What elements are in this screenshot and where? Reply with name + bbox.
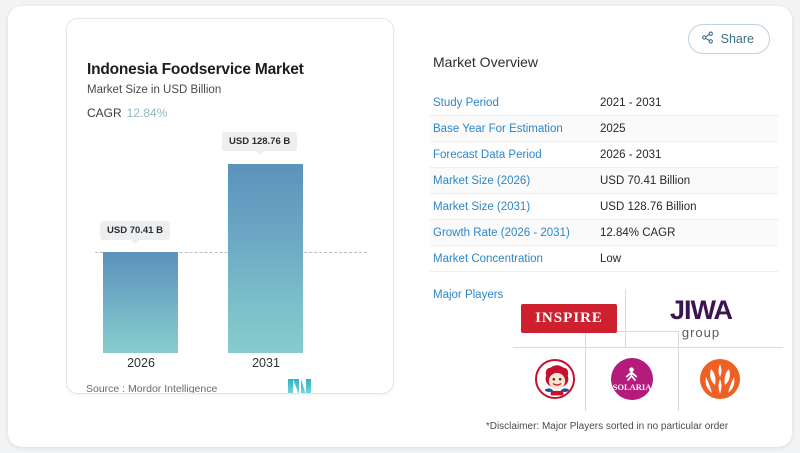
players-disclaimer: *Disclaimer: Major Players sorted in no … xyxy=(432,421,782,432)
table-row: Growth Rate (2026 - 2031) 12.84% CAGR xyxy=(430,220,778,246)
row-key: Growth Rate (2026 - 2031) xyxy=(430,227,600,239)
table-row: Market Size (2031) USD 128.76 Billion xyxy=(430,194,778,220)
table-row: Study Period 2021 - 2031 xyxy=(430,90,778,116)
row-key: Study Period xyxy=(430,97,600,109)
row-key: Market Size (2031) xyxy=(430,201,600,213)
row-key: Market Size (2026) xyxy=(430,175,600,187)
table-row: Base Year For Estimation 2025 xyxy=(430,116,778,142)
jiwa-wordmark: JIWA xyxy=(670,297,732,324)
row-value: 12.84% CAGR xyxy=(600,227,675,239)
bar-2031[interactable] xyxy=(228,164,303,353)
row-value: 2026 - 2031 xyxy=(600,149,661,161)
table-row: Market Size (2026) USD 70.41 Billion xyxy=(430,168,778,194)
bar-label-2026: USD 70.41 B xyxy=(100,221,170,240)
row-value: 2025 xyxy=(600,123,626,135)
row-key: Market Concentration xyxy=(430,253,600,265)
market-overview-title: Market Overview xyxy=(433,54,538,70)
wendys-logo xyxy=(535,359,575,399)
x-axis-label-2026: 2026 xyxy=(96,356,186,370)
bar-label-2031: USD 128.76 B xyxy=(222,132,297,151)
jiwa-subtext: group xyxy=(670,326,732,339)
table-row: Forecast Data Period 2026 - 2031 xyxy=(430,142,778,168)
row-value: 2021 - 2031 xyxy=(600,97,661,109)
chart-card: Indonesia Foodservice Market Market Size… xyxy=(66,18,394,394)
major-players-label: Major Players xyxy=(433,289,503,301)
page-card: Share Indonesia Foodservice Market Marke… xyxy=(8,6,792,447)
market-overview-table: Study Period 2021 - 2031 Base Year For E… xyxy=(430,90,778,272)
player-logo-inspire: INSPIRE xyxy=(517,295,621,341)
player-logo-solaria: SOLARIA xyxy=(603,351,661,407)
share-network-icon xyxy=(701,31,714,47)
player-logo-orange-flame xyxy=(691,353,749,405)
row-value: USD 70.41 Billion xyxy=(600,175,690,187)
row-key: Forecast Data Period xyxy=(430,149,600,161)
x-axis-label-2031: 2031 xyxy=(221,356,311,370)
row-value: Low xyxy=(600,253,621,265)
solaria-inner: SOLARIA xyxy=(613,367,652,392)
jiwa-group-logo: JIWA group xyxy=(670,297,732,339)
solaria-logo: SOLARIA xyxy=(611,358,653,400)
share-button[interactable]: Share xyxy=(688,24,770,54)
chart-source: Source : Mordor Intelligence xyxy=(86,383,217,394)
solaria-wordmark: SOLARIA xyxy=(613,382,652,392)
bar-2026[interactable] xyxy=(103,252,178,353)
player-logo-jiwa: JIWA group xyxy=(631,291,771,345)
share-button-label: Share xyxy=(721,32,754,46)
mordor-intelligence-logo xyxy=(288,379,312,394)
logo-divider-horizontal xyxy=(513,347,783,348)
row-value: USD 128.76 Billion xyxy=(600,201,697,213)
player-logo-wendys xyxy=(527,353,583,405)
row-key: Base Year For Estimation xyxy=(430,123,600,135)
orange-flame-logo xyxy=(700,359,740,399)
logo-divider-vertical xyxy=(585,331,586,411)
logo-divider-vertical xyxy=(625,289,626,347)
major-players-logos: INSPIRE JIWA group xyxy=(513,289,783,411)
inspire-logo: INSPIRE xyxy=(521,304,617,333)
table-row: Market Concentration Low xyxy=(430,246,778,272)
bar-chart-plot: USD 70.41 B USD 128.76 B 2026 2031 xyxy=(67,19,394,394)
